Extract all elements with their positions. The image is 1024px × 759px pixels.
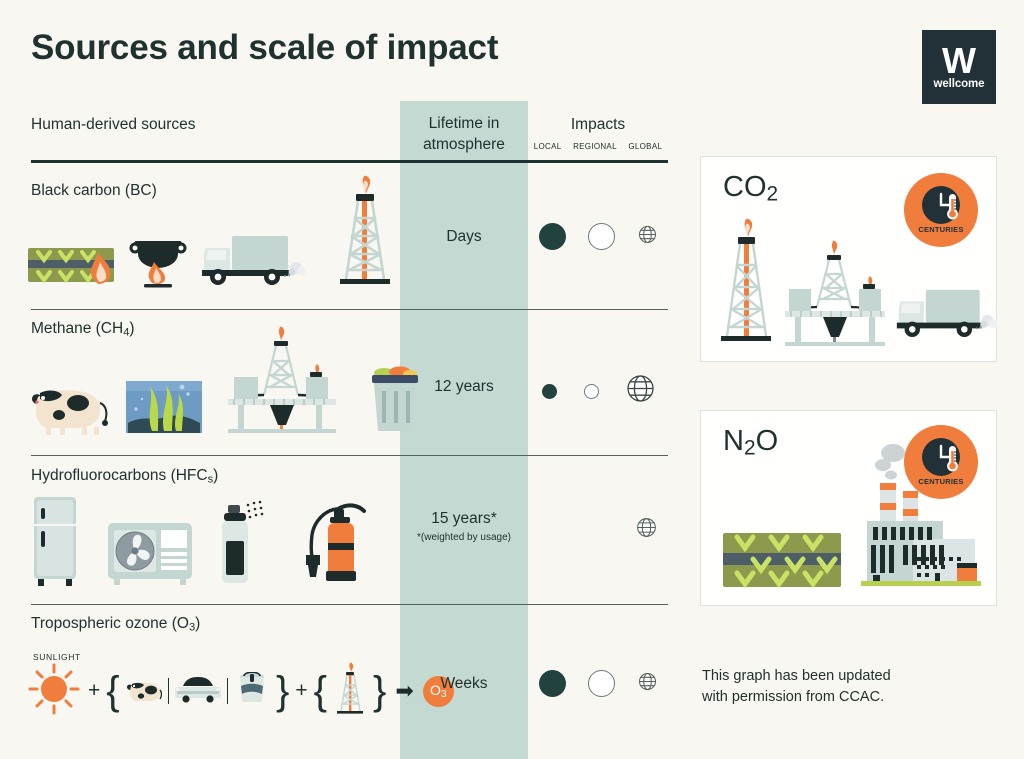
row-divider-2 <box>31 455 668 456</box>
impact-local-marker <box>542 384 557 399</box>
impact-scale-labels: LOCAL REGIONAL GLOBAL <box>528 142 668 151</box>
brace-open-1: { <box>106 669 119 714</box>
impact-regional-empty <box>587 516 614 543</box>
lifetime-note-hfcs: *(weighted by usage) <box>400 532 528 543</box>
column-header-impacts: Impacts <box>528 116 668 134</box>
offshore-rig-icon <box>222 325 342 440</box>
impact-scale-local: LOCAL <box>534 142 562 151</box>
cropland-icon <box>721 529 843 596</box>
lifetime-value-hfcs: 15 years* *(weighted by usage) <box>400 510 528 543</box>
fire-extinguisher-icon <box>292 493 368 592</box>
column-header-lifetime: Lifetime in atmosphere <box>400 114 528 156</box>
factory-icon <box>853 439 985 596</box>
diesel-truck-icon <box>893 281 999 348</box>
impacts-methane <box>528 374 668 408</box>
impact-local-empty <box>539 516 566 543</box>
lifetime-value-black-carbon: Days <box>400 228 528 246</box>
lifetime-value-ozone: Weeks <box>400 675 528 693</box>
lifetime-header-line2: atmosphere <box>423 136 505 153</box>
page-title: Sources and scale of impact <box>31 28 498 68</box>
wellcome-logo: W wellcome <box>922 30 996 104</box>
impact-local-marker <box>539 670 566 697</box>
wetland-icon <box>124 365 204 440</box>
gas-flare-tower-icon <box>715 215 777 352</box>
impact-global-globe-icon <box>638 672 657 696</box>
cow-icon <box>26 373 112 440</box>
brace-close-2: } <box>373 669 386 714</box>
row-divider-3 <box>31 604 668 605</box>
formula-plus-1: + <box>88 679 100 703</box>
air-conditioner-icon <box>106 517 194 592</box>
co2-panel-icons <box>715 215 999 352</box>
source-icons-hfcs <box>26 492 368 592</box>
lifetime-value-methane: 12 years <box>400 378 528 396</box>
impact-global-globe-icon <box>636 517 657 543</box>
panel-n2o: N2O CENTURIES <box>700 410 997 606</box>
panel-co2: CO2 CENTURIES <box>700 156 997 362</box>
source-icons-black-carbon <box>26 175 396 295</box>
impacts-hfcs <box>528 516 668 543</box>
row-label-ozone: Tropospheric ozone (O3) <box>31 615 200 633</box>
credit-line-2: with permission from CCAC. <box>702 689 884 705</box>
row-label-hfcs: Hydrofluorocarbons (HFCs) <box>31 467 218 485</box>
waste-bin-icon <box>364 359 428 440</box>
logo-wordmark: wellcome <box>934 78 985 90</box>
source-icons-methane <box>26 330 428 440</box>
impacts-black-carbon <box>528 223 668 250</box>
car-icon <box>175 674 221 709</box>
refrigerator-icon <box>26 495 84 592</box>
impact-local-marker <box>539 223 566 250</box>
gas-flare-tower-icon <box>332 172 396 295</box>
impact-global-globe-icon <box>638 225 657 249</box>
gas-flare-tower-icon <box>333 661 367 722</box>
lifetime-header-line1: Lifetime in <box>429 115 500 132</box>
impacts-ozone <box>528 670 668 697</box>
cookstove-icon <box>128 230 188 295</box>
credit-text: This graph has been updated with permiss… <box>702 666 891 708</box>
column-header-sources: Human-derived sources <box>31 116 196 134</box>
panel-n2o-title: N2O <box>723 425 778 461</box>
brace-open-2: { <box>314 669 327 714</box>
logo-letter: W <box>942 44 976 77</box>
panel-co2-title: CO2 <box>723 171 778 207</box>
impact-scale-regional: REGIONAL <box>573 142 617 151</box>
impact-regional-marker <box>588 223 615 250</box>
ozone-formula-row: + { <box>26 663 454 719</box>
crop-burning-icon <box>26 230 118 295</box>
impact-scale-global: GLOBAL <box>628 142 662 151</box>
row-divider-1 <box>31 309 668 310</box>
offshore-rig-icon <box>783 239 887 352</box>
credit-line-1: This graph has been updated <box>702 668 891 684</box>
sun-icon <box>26 661 82 722</box>
impact-global-globe-icon <box>626 374 655 408</box>
infographic-root: Sources and scale of impact W wellcome H… <box>0 0 1024 759</box>
paint-bucket-icon <box>234 672 270 711</box>
aerosol-can-icon <box>216 495 270 592</box>
cow-icon <box>126 674 162 709</box>
impact-regional-marker <box>584 384 599 399</box>
impact-regional-marker <box>588 670 615 697</box>
lifetime-main-hfcs: 15 years* <box>431 510 496 527</box>
diesel-truck-icon <box>198 228 308 295</box>
brace-close-1: } <box>276 669 289 714</box>
header-rule <box>31 160 668 163</box>
formula-plus-2: + <box>295 679 307 703</box>
formula-divider-2 <box>227 678 228 704</box>
formula-divider-1 <box>168 678 169 704</box>
